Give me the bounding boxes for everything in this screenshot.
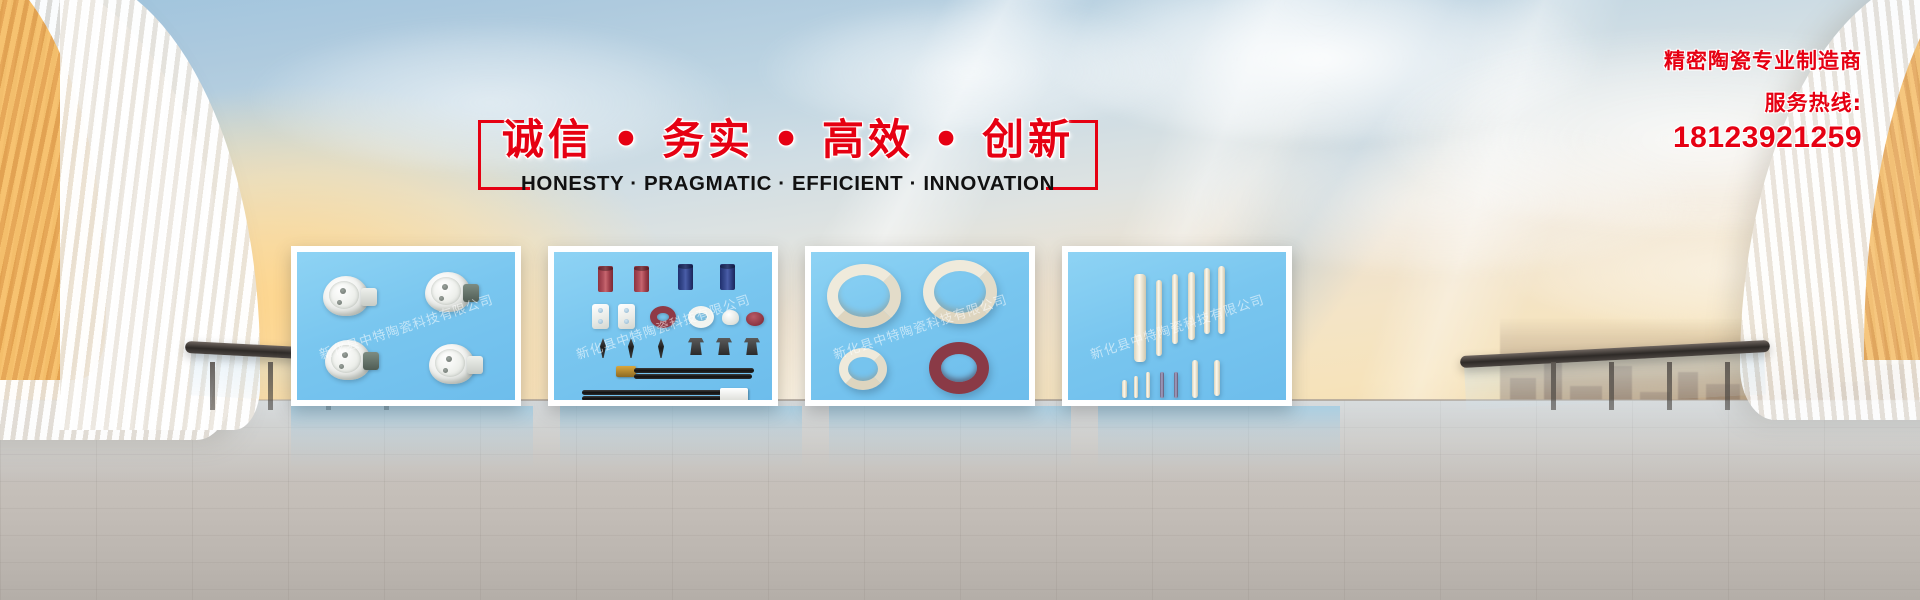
product-panel-row: 新化县中特陶瓷科技有限公司 <box>291 246 1531 406</box>
ceramic-rod <box>1204 268 1210 334</box>
ceramic-ring-maroon <box>650 306 676 328</box>
ceramic-disc-maroon <box>746 312 764 326</box>
slogan-block: 诚信 • 务实 • 高效 • 创新 HONESTY · PRAGMATIC · … <box>478 104 1098 209</box>
slogan-chinese: 诚信 • 务实 • 高效 • 创新 <box>478 112 1098 168</box>
slogan-english: HONESTY · PRAGMATIC · EFFICIENT · INNOVA… <box>478 172 1098 196</box>
floor-sheen <box>0 400 1920 600</box>
ceramic-rod <box>1156 280 1162 356</box>
railing-post <box>268 362 273 410</box>
ceramic-pin <box>1134 376 1138 398</box>
product-panel-ceramic-sockets[interactable]: 新化县中特陶瓷科技有限公司 <box>291 246 521 406</box>
railing-post <box>1551 362 1556 410</box>
ceramic-pin-purple <box>1160 372 1164 398</box>
ceramic-ring-maroon <box>929 342 989 394</box>
ceramic-rod <box>1218 266 1225 334</box>
hotline-label: 服务热线: <box>1664 90 1862 116</box>
ceramic-cap <box>722 310 739 325</box>
ceramic-rod <box>1172 274 1178 344</box>
ceramic-ring-large <box>827 264 901 328</box>
ceramic-rod <box>1188 272 1195 340</box>
ceramic-plate <box>618 304 635 329</box>
ceramic-pin-purple <box>1174 372 1178 398</box>
ceramic-sleeve-red <box>598 266 613 292</box>
ceramic-sleeve-red <box>634 266 649 292</box>
ceramic-pin <box>1122 380 1127 398</box>
ceramic-ring-large <box>923 260 997 324</box>
ceramic-ring-small <box>839 348 887 390</box>
company-tagline: 精密陶瓷专业制造商 <box>1664 48 1862 74</box>
promotional-banner: 诚信 • 务实 • 高效 • 创新 HONESTY · PRAGMATIC · … <box>0 0 1920 600</box>
product-panel-ceramic-sleeves[interactable]: 新化县中特陶瓷科技有限公司 <box>548 246 778 406</box>
ceramic-rod <box>1192 360 1198 398</box>
product-panel-ceramic-rings[interactable]: 新化县中特陶瓷科技有限公司 <box>805 246 1035 406</box>
ceramic-ring-white <box>688 306 714 328</box>
product-panel-ceramic-rods[interactable]: 新化县中特陶瓷科技有限公司 <box>1062 246 1292 406</box>
hotline-phone-number[interactable]: 18123921259 <box>1664 120 1862 156</box>
railing-post <box>210 362 215 410</box>
railing-post <box>1609 362 1614 410</box>
ceramic-pin <box>1146 372 1150 398</box>
ceramic-sleeve-blue <box>678 264 693 290</box>
panel-background <box>297 252 515 400</box>
contact-block: 精密陶瓷专业制造商 服务热线: 18123921259 <box>1664 48 1862 156</box>
ceramic-rod <box>1134 274 1146 362</box>
railing-post <box>1725 362 1730 410</box>
ceramic-rod <box>1214 360 1220 396</box>
railing-post <box>1667 362 1672 410</box>
ceramic-plate <box>592 304 609 329</box>
right-canopy-amber-louvers <box>1864 0 1920 360</box>
ceramic-sleeve-blue <box>720 264 735 290</box>
